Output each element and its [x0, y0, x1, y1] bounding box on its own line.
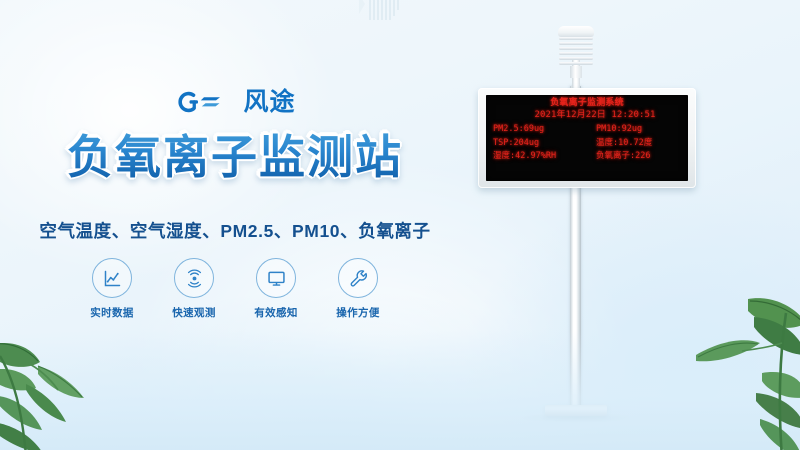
radiation-shield-sensor-icon [551, 26, 601, 74]
brand-logo: 风途 [0, 88, 470, 116]
led-reading-temperature: 温度:10.72度 [586, 139, 683, 148]
feature-item-effective-sensing[interactable]: 有效感知 [250, 258, 302, 320]
line-chart-icon [102, 268, 123, 289]
fengtu-wind-logo-icon [174, 88, 234, 116]
poster-canvas: 风途 负氧离子监测站 空气温度、空气湿度、PM2.5、PM10、负氧离子 实时数… [0, 0, 800, 450]
led-display-panel[interactable]: 负氧离子监测系统 2021年12月22日 12:20:51 PM2.5:69ug… [478, 88, 696, 188]
feature-list: 实时数据 快速观测 [0, 258, 470, 320]
feature-label: 操作方便 [336, 305, 380, 320]
led-reading-negative-ion: 负氧离子:226 [586, 152, 683, 161]
led-reading-pm25: PM2.5:69ug [493, 125, 586, 134]
feature-icon-circle [92, 258, 132, 298]
feature-label: 有效感知 [254, 305, 298, 320]
led-display-title: 负氧离子监测系统 [486, 99, 688, 108]
green-leaf-plant-icon [0, 326, 122, 450]
feature-item-easy-operation[interactable]: 操作方便 [332, 258, 384, 320]
feature-label: 快速观测 [172, 305, 216, 320]
led-display-datetime: 2021年12月22日 12:20:51 [486, 111, 688, 120]
radar-signal-icon [184, 268, 205, 289]
led-reading-pm10: PM10:92ug [586, 125, 683, 134]
led-reading-humidity: 湿度:42.97%RH [493, 152, 586, 161]
monitor-screen-icon [266, 268, 287, 289]
brand-name: 风途 [243, 90, 295, 115]
feature-icon-circle [256, 258, 296, 298]
led-reading-tsp: TSP:204ug [493, 139, 586, 148]
hero-subtitle: 空气温度、空气湿度、PM2.5、PM10、负氧离子 [0, 218, 470, 243]
wrench-icon [348, 268, 369, 289]
led-display-screen: 负氧离子监测系统 2021年12月22日 12:20:51 PM2.5:69ug… [486, 95, 688, 181]
feature-item-fast-observation[interactable]: 快速观测 [168, 258, 220, 320]
feature-icon-circle [338, 258, 378, 298]
led-reading-grid: PM2.5:69ug PM10:92ug TSP:204ug 温度:10.72度… [493, 125, 683, 161]
green-leaf-plant-icon [686, 273, 800, 450]
feature-item-realtime-data[interactable]: 实时数据 [86, 258, 138, 320]
page-title: 负氧离子监测站 [0, 130, 470, 184]
base-flange-plate-icon [545, 405, 607, 416]
feature-icon-circle [174, 258, 214, 298]
feature-label: 实时数据 [90, 305, 134, 320]
